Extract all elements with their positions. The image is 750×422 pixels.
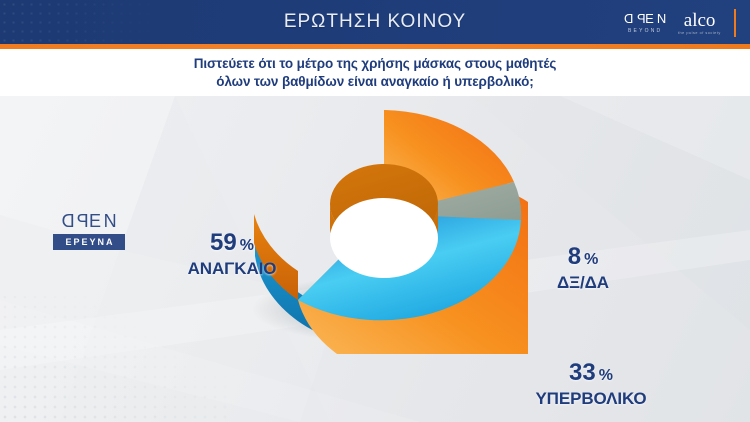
label-dk-value: 8% [520,244,646,273]
donut-chart-3d [238,104,528,354]
alco-logo-tagline: the pulse of society [678,31,721,35]
open-logo-wordmark: DPEN [621,12,669,26]
label-necessary-value: 59% [152,230,312,259]
label-dk-name: ΔΞ/ΔΑ [520,273,646,293]
alco-logo-wordmark: alco [684,11,716,30]
open-logo-tagline: BEYOND [628,28,662,34]
poll-graphic: ΕΡΩΤΗΣΗ ΚΟΙΝΟΥ DPEN BEYOND alco the puls… [0,0,750,422]
label-excessive-name: ΥΠΕΡΒΟΛΙΚΟ [486,389,696,409]
label-necessary: 59% ΑΝΑΓΚΑΙΟ [152,230,312,279]
question-line-1: Πιστεύετε ότι το μέτρο της χρήσης μάσκας… [194,55,557,73]
donut-hole [330,198,438,278]
open-beyond-logo: DPEN BEYOND [621,12,669,34]
alco-logo: alco the pulse of society [679,11,720,35]
logo-divider [734,9,736,37]
chart-area: 59% ΑΝΑΓΚΑΙΟ 8% ΔΞ/ΔΑ 33% ΥΠΕΡΒΟΛΙΚΟ [0,96,750,422]
question-banner: Πιστεύετε ότι το μέτρο της χρήσης μάσκας… [0,49,750,96]
logo-cluster: DPEN BEYOND alco the pulse of society [621,8,736,38]
label-excessive-value: 33% [486,360,696,389]
label-excessive: 33% ΥΠΕΡΒΟΛΙΚΟ [486,360,696,409]
header-band: ΕΡΩΤΗΣΗ ΚΟΙΝΟΥ DPEN BEYOND alco the puls… [0,0,750,44]
label-necessary-name: ΑΝΑΓΚΑΙΟ [152,259,312,279]
label-dk: 8% ΔΞ/ΔΑ [520,244,646,293]
question-line-2: όλων των βαθμίδων είναι αναγκαίο ή υπερβ… [216,73,533,91]
